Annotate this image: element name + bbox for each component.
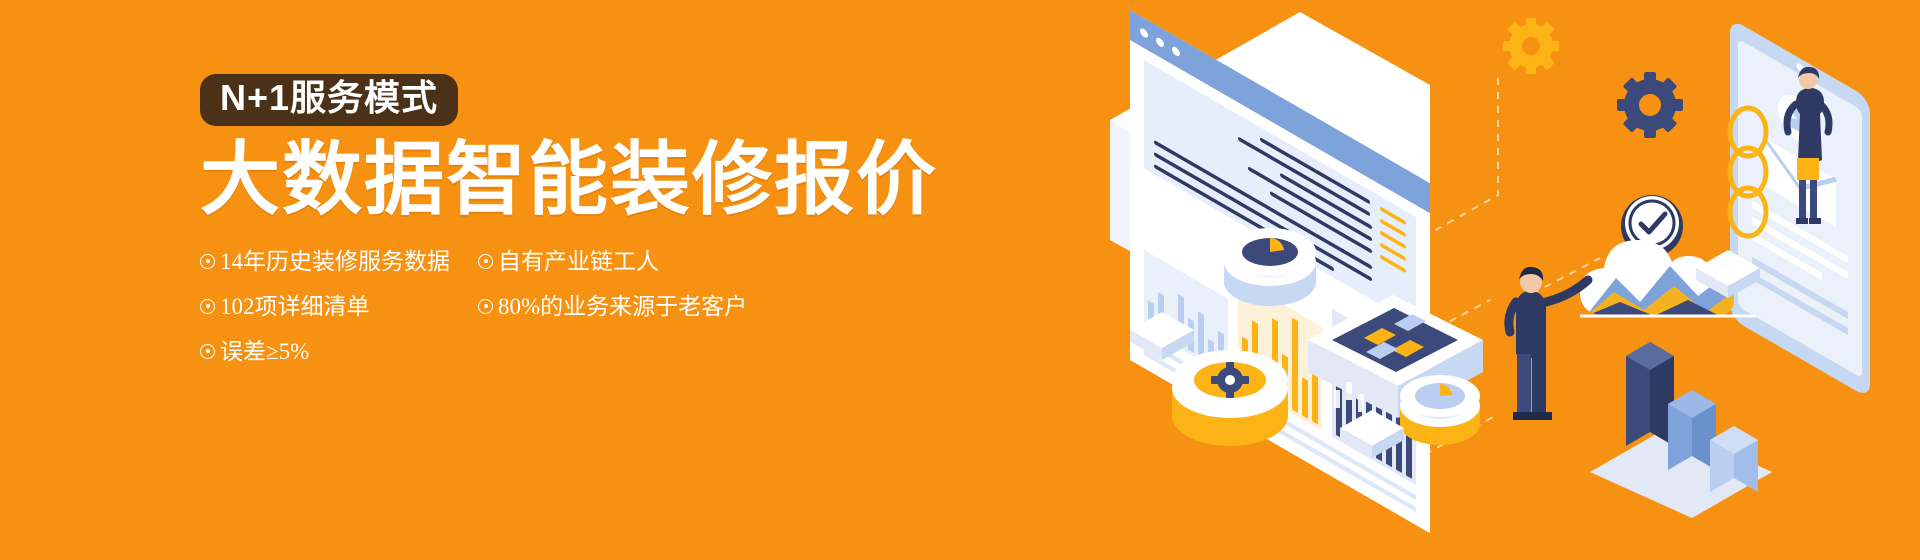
isometric-illustration (1100, 0, 1920, 560)
list-item-label: 80%的业务来源于老客户 (498, 295, 747, 318)
list-item: 80%的业务来源于老客户 (478, 295, 778, 318)
page-title: 大数据智能装修报价 (200, 140, 920, 220)
database-discs-icon (1172, 350, 1288, 446)
list-item: 误差≥5% (200, 340, 450, 363)
gear-amber-icon (1503, 18, 1559, 74)
list-item-label: 误差≥5% (220, 340, 309, 363)
discs-stack-icon (1224, 228, 1316, 306)
bullet-dot-icon (478, 254, 493, 269)
list-item: 14年历史装修服务数据 (200, 250, 450, 273)
feature-column-1: 14年历史装修服务数据 102项详细清单 误差≥5% (200, 250, 450, 385)
list-item: 102项详细清单 (200, 295, 450, 318)
bullet-dot-icon (200, 299, 215, 314)
man-figure-icon (1509, 267, 1588, 420)
list-item: 自有产业链工人 (478, 250, 778, 273)
bar-chart-blocks-icon (1590, 342, 1772, 518)
bullet-dot-icon (200, 254, 215, 269)
feature-list: 14年历史装修服务数据 102项详细清单 误差≥5% 自有产业链工人 (200, 250, 920, 385)
bullet-dot-icon (478, 299, 493, 314)
discs-stack-small-icon (1400, 375, 1480, 445)
service-mode-badge: N+1服务模式 (200, 74, 458, 126)
bullet-dot-icon (200, 344, 215, 359)
list-item-label: 自有产业链工人 (498, 250, 659, 273)
list-item-label: 14年历史装修服务数据 (220, 250, 450, 273)
promo-banner: N+1服务模式 大数据智能装修报价 14年历史装修服务数据 102项详细清单 误… (0, 0, 1920, 560)
feature-column-2: 自有产业链工人 80%的业务来源于老客户 (478, 250, 778, 385)
gear-navy-icon (1617, 72, 1683, 138)
list-item-label: 102项详细清单 (220, 295, 370, 318)
copy-block: N+1服务模式 大数据智能装修报价 14年历史装修服务数据 102项详细清单 误… (200, 74, 920, 385)
